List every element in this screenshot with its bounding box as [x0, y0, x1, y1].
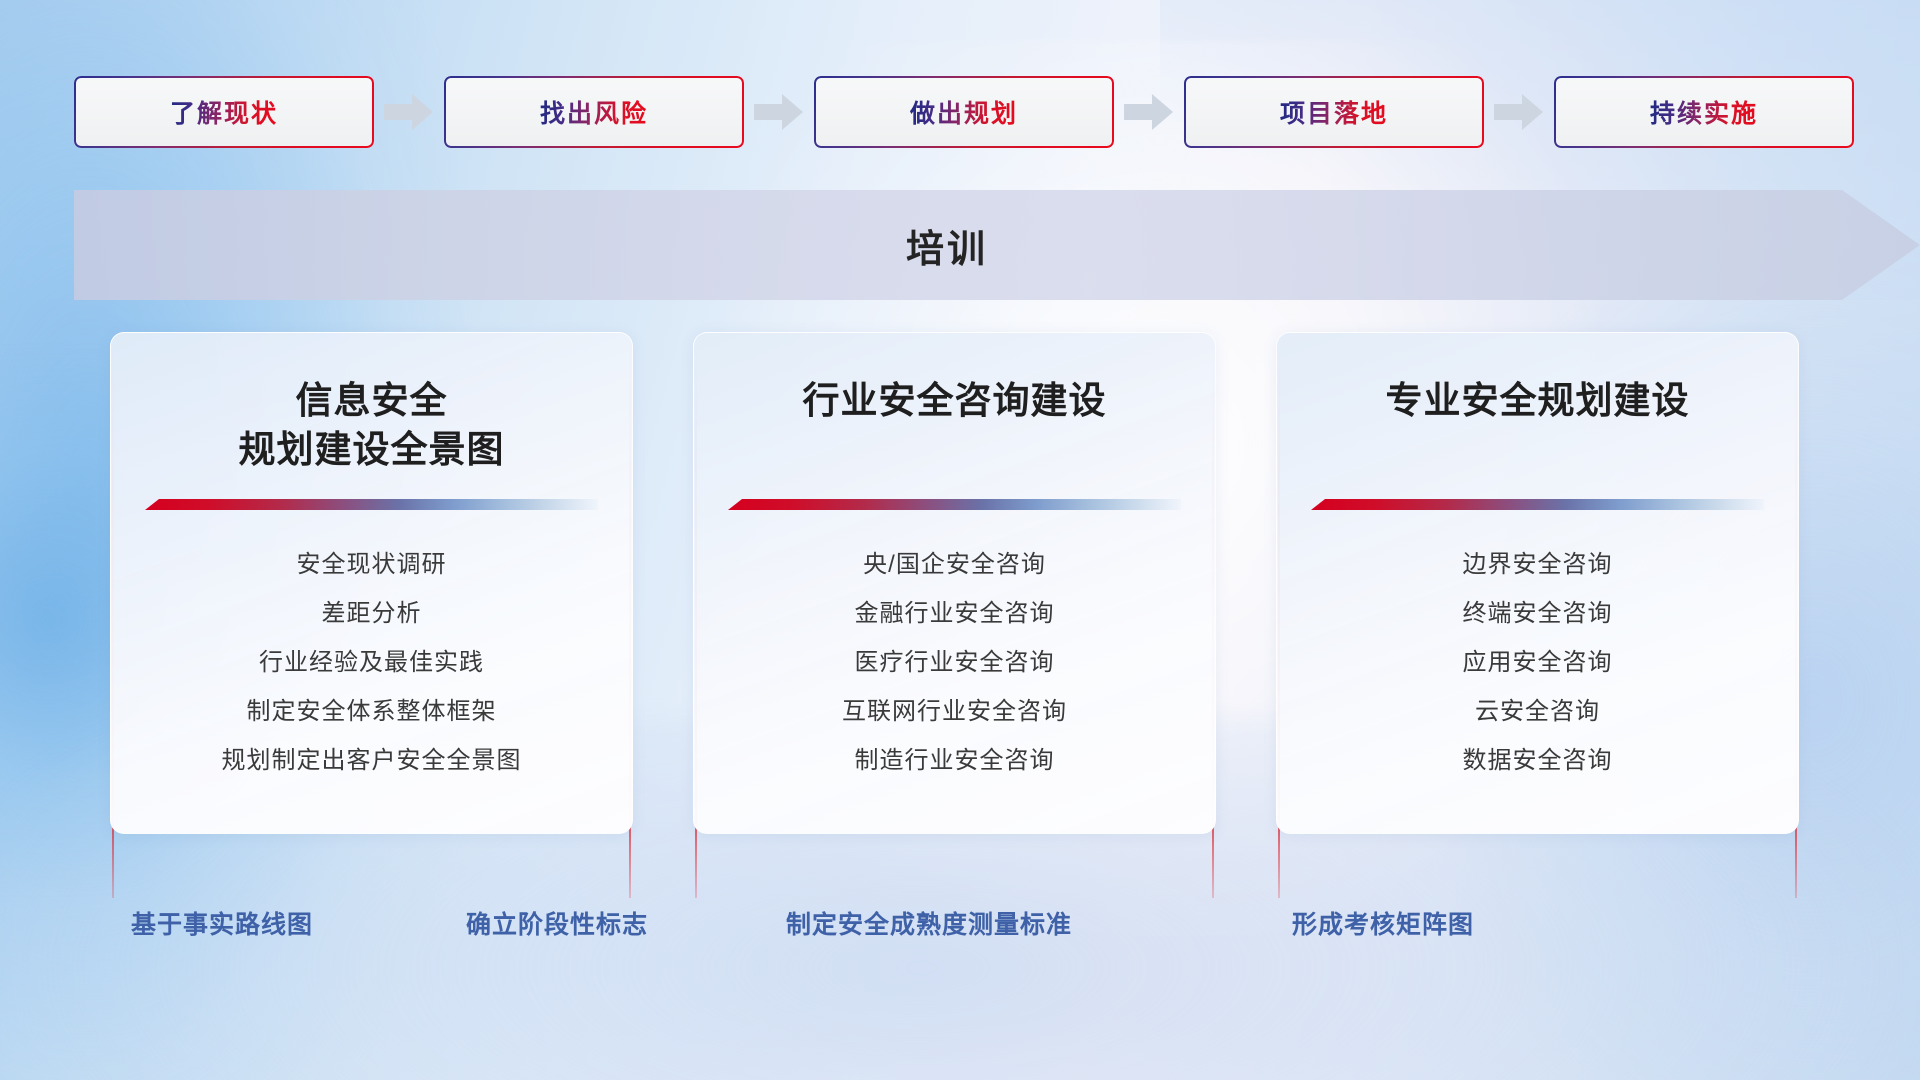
step-chip-4[interactable]: 项目落地: [1184, 76, 1484, 148]
step-label: 做出规划: [910, 94, 1018, 130]
card-list: 边界安全咨询 终端安全咨询 应用安全咨询 云安全咨询 数据安全咨询: [1303, 550, 1772, 776]
right-arrow-icon: [1122, 90, 1176, 134]
process-step-row: 了解现状 找出风险 做出规划 项目落地 持续实施: [0, 76, 1920, 148]
card-list: 央/国企安全咨询 金融行业安全咨询 医疗行业安全咨询 互联网行业安全咨询 制造行…: [720, 550, 1189, 776]
step-label: 持续实施: [1650, 94, 1758, 130]
card-divider: [1311, 499, 1764, 510]
card-information-security-blueprint[interactable]: 信息安全 规划建设全景图 安全现状调研 差距分析 行业经验及最佳实践 制定安全体…: [110, 332, 633, 834]
card-professional-security-planning[interactable]: 专业安全规划建设 边界安全咨询 终端安全咨询 应用安全咨询 云安全咨询 数据安全…: [1276, 332, 1799, 834]
right-arrow-icon: [1492, 90, 1546, 134]
list-item: 差距分析: [322, 599, 422, 629]
card-list: 安全现状调研 差距分析 行业经验及最佳实践 制定安全体系整体框架 规划制定出客户…: [137, 550, 606, 776]
card-title-line: 行业安全咨询建设: [720, 377, 1189, 426]
list-item: 互联网行业安全咨询: [842, 697, 1067, 727]
step-label: 找出风险: [540, 94, 648, 130]
card-title: 信息安全 规划建设全景图: [137, 377, 606, 477]
list-item: 安全现状调研: [297, 550, 447, 580]
card-title-line: 规划建设全景图: [137, 426, 606, 475]
list-item: 边界安全咨询: [1463, 550, 1613, 580]
list-item: 规划制定出客户安全全景图: [222, 746, 522, 776]
list-item: 行业经验及最佳实践: [259, 648, 484, 678]
bottom-label-roadmap: 基于事实路线图: [131, 905, 313, 941]
bottom-label-maturity: 制定安全成熟度测量标准: [786, 905, 1072, 941]
card-wrap-2: 行业安全咨询建设 央/国企安全咨询 金融行业安全咨询 医疗行业安全咨询 互联网行…: [693, 332, 1216, 880]
card-row: 信息安全 规划建设全景图 安全现状调研 差距分析 行业经验及最佳实践 制定安全体…: [0, 332, 1920, 880]
step-label: 项目落地: [1280, 94, 1388, 130]
step-chip-2[interactable]: 找出风险: [444, 76, 744, 148]
right-arrow-icon: [752, 90, 806, 134]
list-item: 云安全咨询: [1475, 697, 1600, 727]
training-banner-arrow: 培训: [74, 190, 1920, 300]
list-item: 数据安全咨询: [1463, 746, 1613, 776]
bottom-label-row: 基于事实路线图 确立阶段性标志 制定安全成熟度测量标准 形成考核矩阵图: [0, 905, 1920, 957]
list-item: 制定安全体系整体框架: [247, 697, 497, 727]
step-label: 了解现状: [170, 94, 278, 130]
card-wrap-1: 信息安全 规划建设全景图 安全现状调研 差距分析 行业经验及最佳实践 制定安全体…: [110, 332, 633, 880]
bottom-label-milestone: 确立阶段性标志: [466, 905, 648, 941]
step-chip-1[interactable]: 了解现状: [74, 76, 374, 148]
list-item: 央/国企安全咨询: [863, 550, 1046, 580]
card-divider: [145, 499, 598, 510]
card-industry-security-consulting[interactable]: 行业安全咨询建设 央/国企安全咨询 金融行业安全咨询 医疗行业安全咨询 互联网行…: [693, 332, 1216, 834]
card-wrap-3: 专业安全规划建设 边界安全咨询 终端安全咨询 应用安全咨询 云安全咨询 数据安全…: [1276, 332, 1799, 880]
card-divider: [728, 499, 1181, 510]
list-item: 金融行业安全咨询: [855, 599, 1055, 629]
card-title: 专业安全规划建设: [1303, 377, 1772, 477]
list-item: 应用安全咨询: [1463, 648, 1613, 678]
bottom-label-matrix: 形成考核矩阵图: [1292, 905, 1474, 941]
step-chip-5[interactable]: 持续实施: [1554, 76, 1854, 148]
card-title-line: 信息安全: [137, 377, 606, 426]
banner-label: 培训: [74, 190, 1920, 300]
card-divider-bar: [728, 499, 1181, 510]
step-chip-3[interactable]: 做出规划: [814, 76, 1114, 148]
card-divider-bar: [145, 499, 598, 510]
right-arrow-icon: [382, 90, 436, 134]
list-item: 终端安全咨询: [1463, 599, 1613, 629]
list-item: 医疗行业安全咨询: [855, 648, 1055, 678]
list-item: 制造行业安全咨询: [855, 746, 1055, 776]
card-title-line: 专业安全规划建设: [1303, 377, 1772, 426]
card-title: 行业安全咨询建设: [720, 377, 1189, 477]
card-divider-bar: [1311, 499, 1764, 510]
